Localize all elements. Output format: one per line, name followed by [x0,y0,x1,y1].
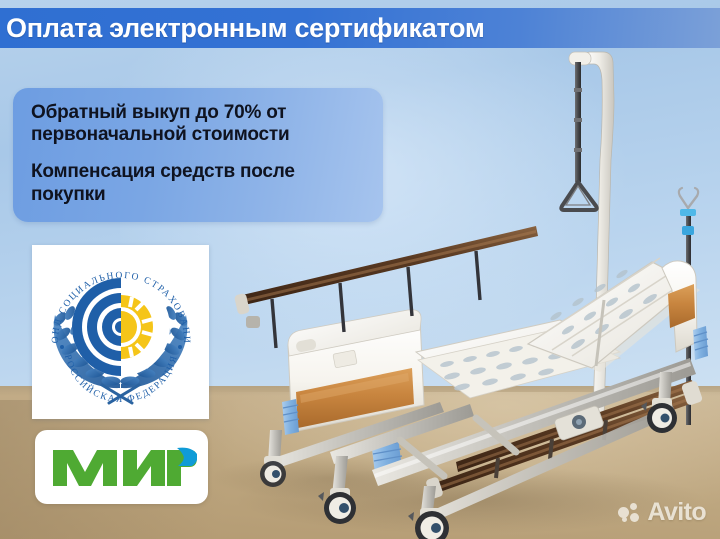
mir-logo-icon [47,442,197,492]
corner-bumper [282,399,299,435]
avito-watermark: Avito [618,498,706,527]
mir-logo-card [35,430,208,504]
avito-dots-icon [618,503,640,523]
avito-wordmark: Avito [647,498,706,527]
advertisement-image: Оплата электронным сертификатом Обратный… [0,0,720,539]
header-banner: Оплата электронным сертификатом [0,8,720,48]
fss-logo-card: ФОНД СОЦИАЛЬНОГО СТРАХОВАНИЯ РОССИЙСКАЯ … [32,245,209,419]
benefits-card: Обратный выкуп до 70% от первоначальной … [13,88,383,222]
banner-title: Оплата электронным сертификатом [0,13,485,44]
fss-emblem-icon: ФОНД СОЦИАЛЬНОГО СТРАХОВАНИЯ РОССИЙСКАЯ … [32,245,209,419]
benefit-line-1: Обратный выкуп до 70% от первоначальной … [31,102,365,146]
benefit-line-2: Компенсация средств после покупки [31,161,365,205]
